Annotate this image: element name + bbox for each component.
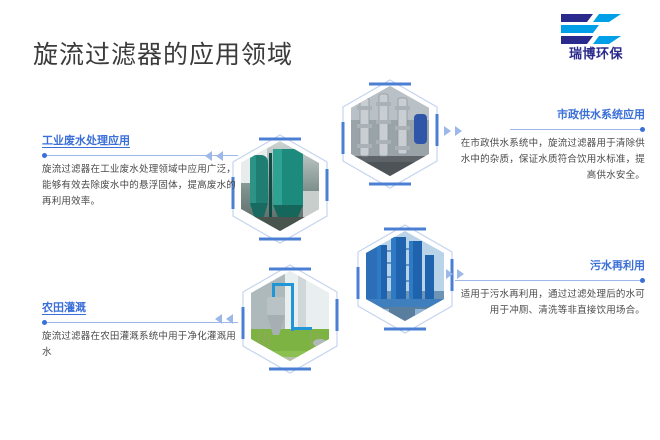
hexagon-municipal	[334, 76, 446, 200]
slide-canvas: 瑞博环保 旋流过滤器的应用领域	[0, 0, 660, 440]
hexagon-reuse	[349, 221, 461, 345]
rule-line	[455, 280, 645, 281]
hexagon-farm	[234, 261, 346, 385]
text-block-industrial: 工业废水处理应用 旋流过滤器在工业废水处理领域中应用广泛，能够有效去除废水中的悬…	[42, 133, 238, 210]
block-heading-industrial: 工业废水处理应用	[42, 133, 238, 150]
block-body-municipal: 在市政供水系统中，旋流过滤器用于清除供水中的杂质，保证水质符合饮用水标准，提高供…	[455, 136, 645, 184]
block-heading-reuse: 污水再利用	[455, 258, 645, 275]
block-heading-municipal: 市政供水系统应用	[510, 107, 645, 124]
page-title: 旋流过滤器的应用领域	[33, 39, 293, 71]
block-heading-farm: 农田灌溉	[42, 300, 238, 317]
rule-dot	[42, 320, 47, 325]
block-rule-industrial	[42, 152, 238, 159]
text-block-municipal: 市政供水系统应用 在市政供水系统中，旋流过滤器用于清除供水中的杂质，保证水质符合…	[510, 107, 645, 184]
block-body-reuse: 适用于污水再利用，通过过滤处理后的水可用于冲厕、清洗等非直接饮用场合。	[455, 287, 645, 319]
rule-line	[42, 322, 238, 323]
block-rule-reuse	[455, 277, 645, 284]
ribo-eco-logo-icon	[559, 12, 633, 46]
rule-line	[42, 155, 238, 156]
rule-dot	[640, 127, 645, 132]
hexagon-industrial	[224, 131, 336, 255]
block-rule-municipal	[510, 126, 645, 133]
rule-dot	[42, 153, 47, 158]
text-block-farm: 农田灌溉 旋流过滤器在农田灌溉系统中用于净化灌溉用水	[42, 300, 238, 361]
block-rule-farm	[42, 319, 238, 326]
block-body-industrial: 旋流过滤器在工业废水处理领域中应用广泛，能够有效去除废水中的悬浮固体，提高废水的…	[42, 162, 238, 210]
rule-dot	[640, 278, 645, 283]
brand-logo: 瑞博环保	[550, 12, 642, 63]
block-body-farm: 旋流过滤器在农田灌溉系统中用于净化灌溉用水	[42, 329, 238, 361]
text-block-reuse: 污水再利用 适用于污水再利用，通过过滤处理后的水可用于冲厕、清洗等非直接饮用场合…	[455, 258, 645, 319]
rule-line	[510, 129, 645, 130]
brand-name: 瑞博环保	[550, 47, 642, 63]
